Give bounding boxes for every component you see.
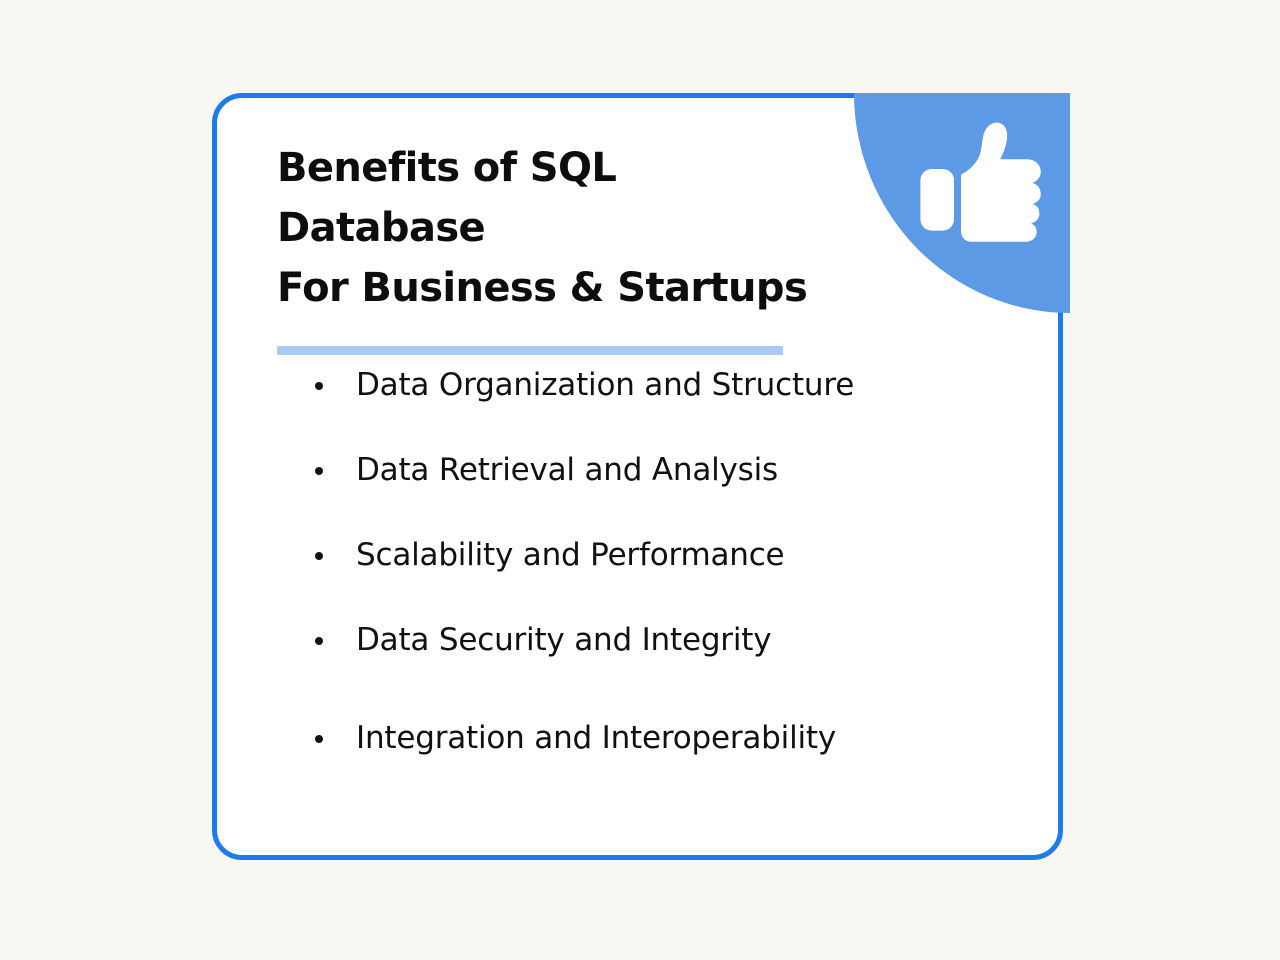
bullet-icon <box>315 735 323 743</box>
list-item-label: Data Organization and Structure <box>356 367 854 403</box>
title-block: Benefits of SQL Database For Business & … <box>277 138 837 355</box>
bullet-icon <box>315 637 323 645</box>
list-item: Data Organization and Structure <box>315 366 1015 404</box>
bullet-icon <box>315 552 323 560</box>
benefits-list: Data Organization and Structure Data Ret… <box>315 366 1015 757</box>
list-item: Data Retrieval and Analysis <box>315 451 1015 489</box>
benefits-card: Benefits of SQL Database For Business & … <box>212 93 1068 860</box>
list-item-label: Data Security and Integrity <box>356 622 771 658</box>
thumbs-up-icon <box>912 113 1052 253</box>
bullet-icon <box>315 382 323 390</box>
title-underline-divider <box>277 346 783 355</box>
list-item: Scalability and Performance <box>315 536 1015 574</box>
bullet-icon <box>315 467 323 475</box>
page-title: Benefits of SQL Database For Business & … <box>277 138 837 318</box>
list-item-label: Scalability and Performance <box>356 537 784 573</box>
list-item: Integration and Interoperability <box>315 719 1015 757</box>
list-item-label: Data Retrieval and Analysis <box>356 452 778 488</box>
list-item-label: Integration and Interoperability <box>356 720 836 756</box>
list-item: Data Security and Integrity <box>315 621 1015 659</box>
